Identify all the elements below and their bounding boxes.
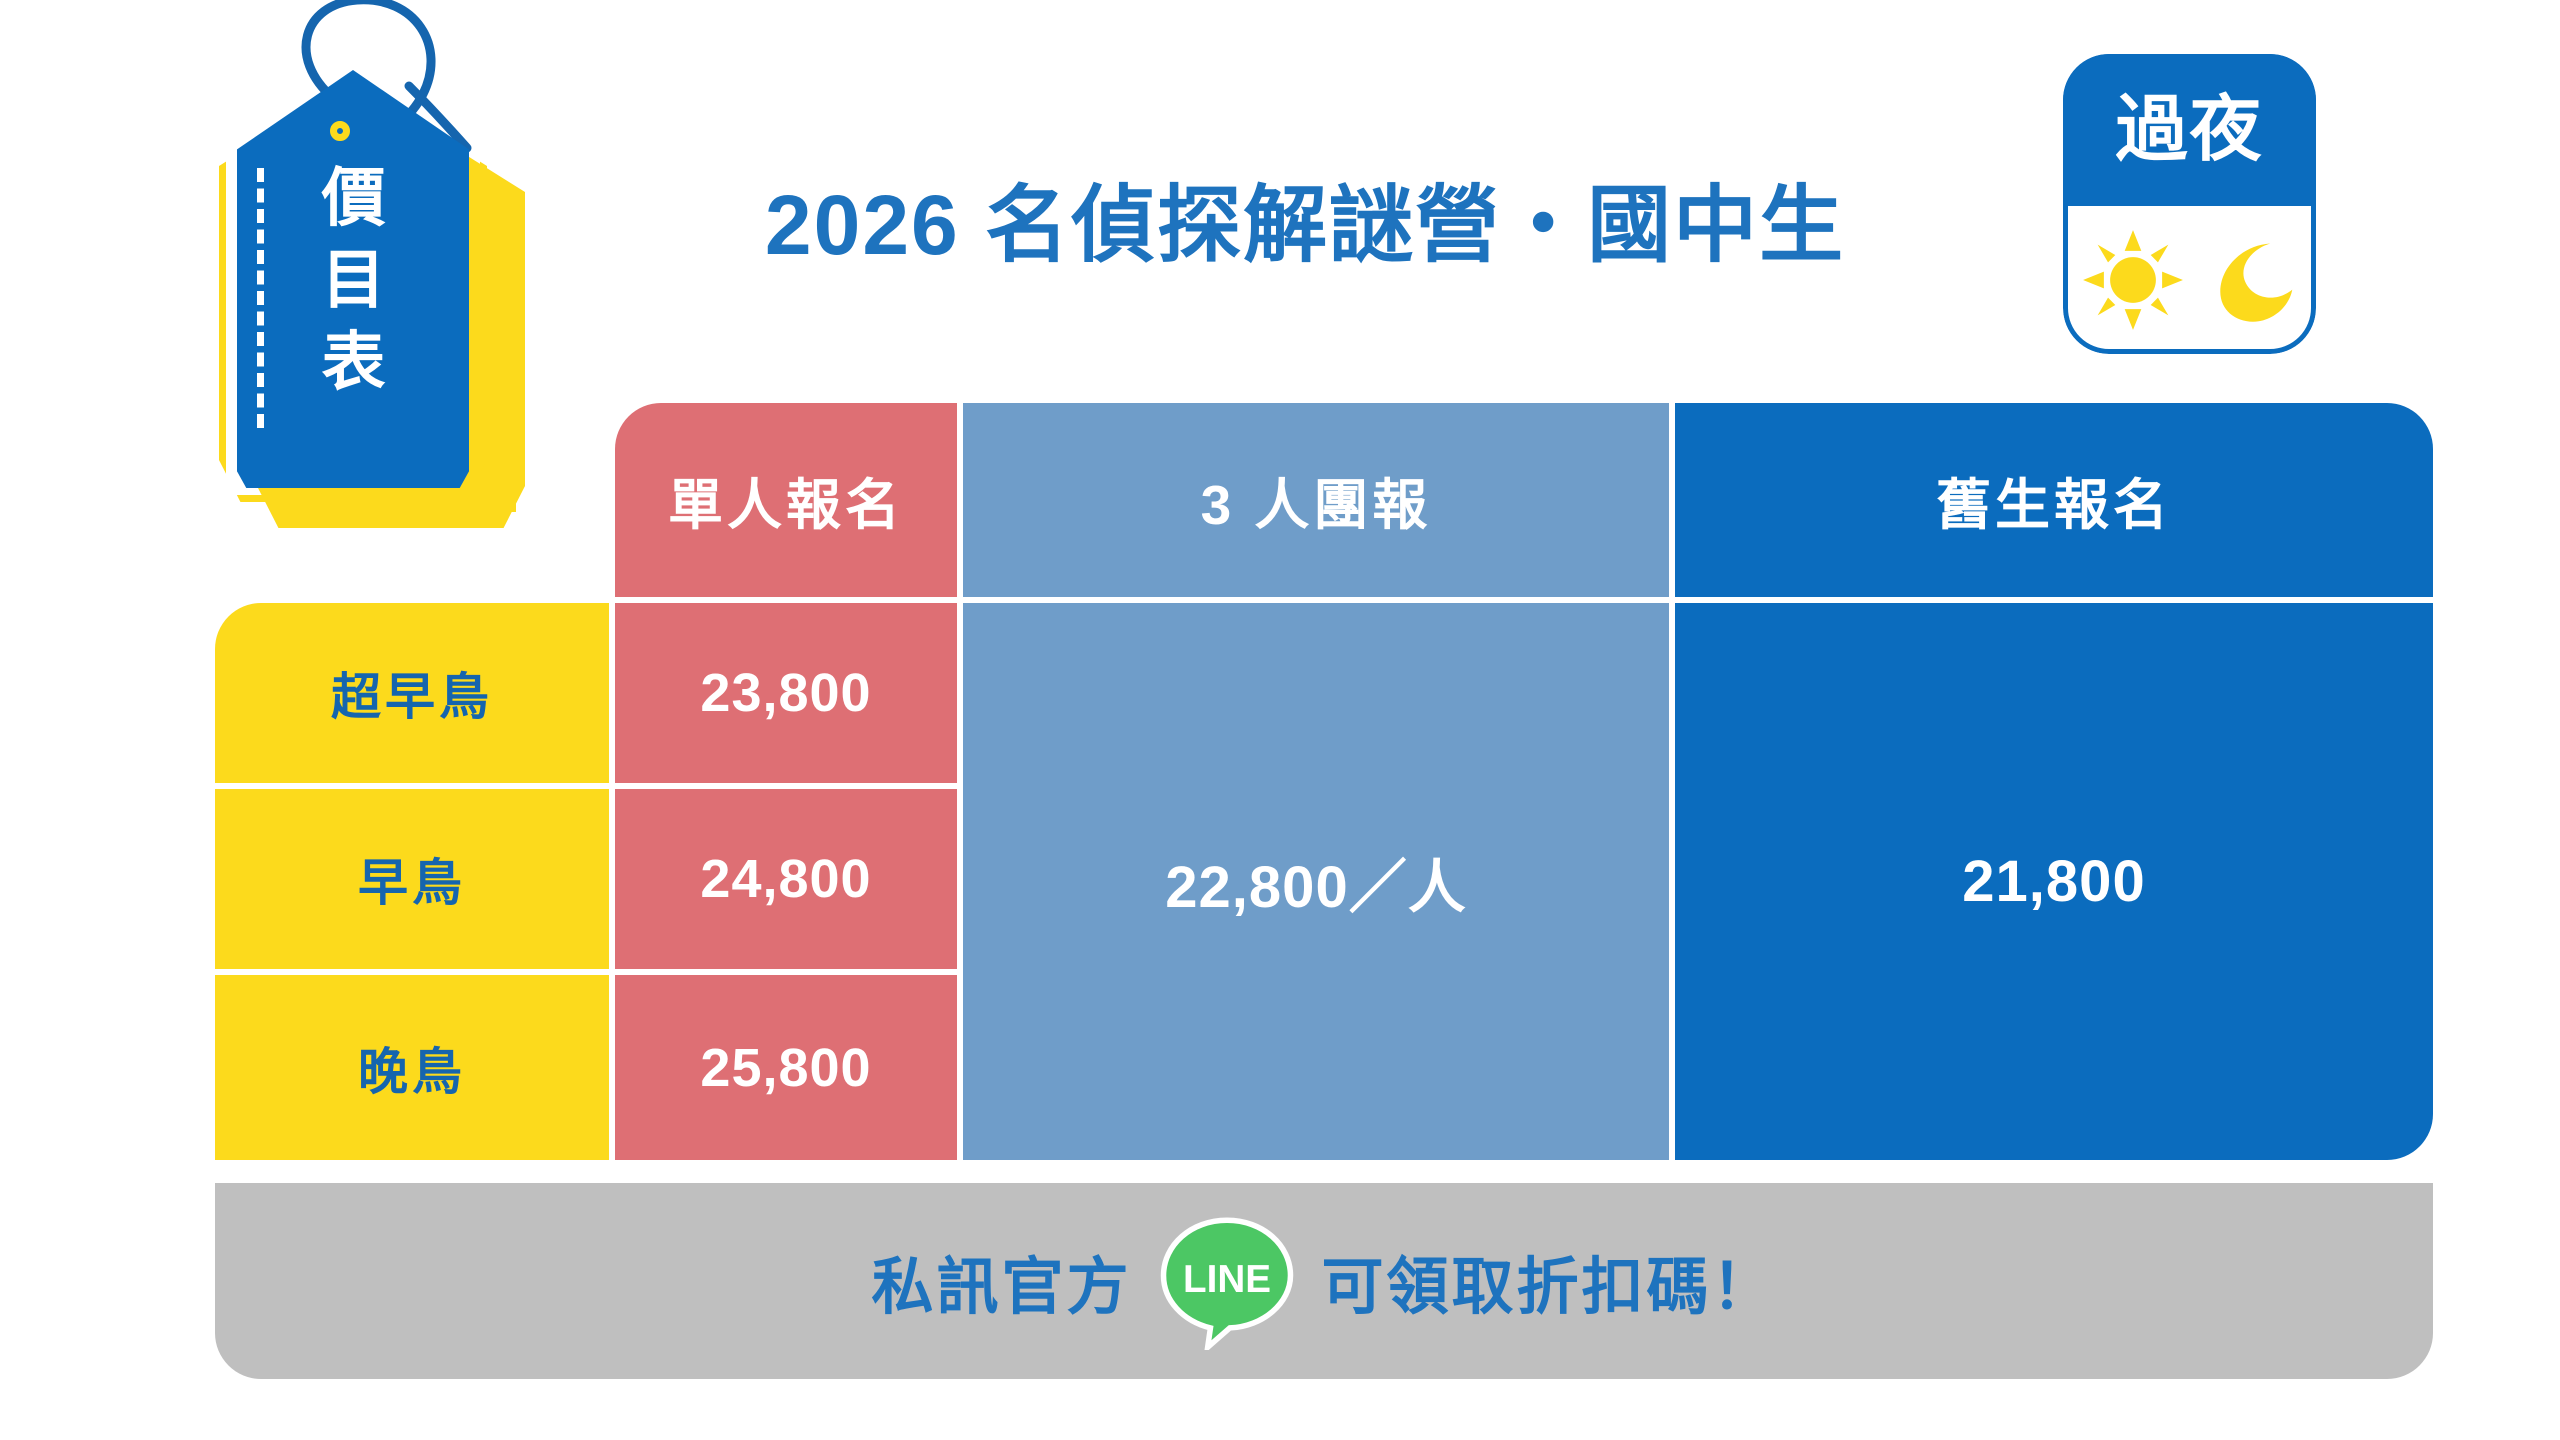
table-cell-single-super-early: 23,800 — [615, 603, 957, 783]
footer-bar: 私訊官方 LINE 可領取折扣碼！ — [215, 1183, 2433, 1379]
line-logo-label: LINE — [1183, 1258, 1271, 1301]
pricing-poster: 價 目 表 2026 名偵探解謎營・國中生 過夜 — [0, 0, 2560, 1440]
price-tag-char-3: 表 — [299, 322, 409, 404]
price-tag-char-2: 目 — [299, 240, 409, 322]
price-tag-char-1: 價 — [299, 158, 409, 240]
price-table: 單人報名 3 人團報 舊生報名 超早鳥 23,800 早鳥 24,800 晚鳥 … — [215, 403, 2433, 1160]
page-title: 2026 名偵探解謎營・國中生 — [620, 158, 1990, 279]
table-row-label-super-early: 超早鳥 — [215, 603, 609, 783]
table-header-group: 3 人團報 — [963, 403, 1669, 597]
overnight-badge-bottom — [2063, 206, 2316, 354]
price-tag-label: 價 目 表 — [299, 158, 409, 404]
table-header-alumni: 舊生報名 — [1675, 403, 2433, 597]
overnight-badge: 過夜 — [2057, 48, 2322, 360]
table-cell-single-early: 24,800 — [615, 789, 957, 969]
table-row-label-early: 早鳥 — [215, 789, 609, 969]
footer-text-after: 可領取折扣碼！ — [1322, 1236, 1777, 1326]
table-row-label-late: 晚鳥 — [215, 975, 609, 1160]
moon-icon — [2203, 232, 2299, 328]
table-header-single: 單人報名 — [615, 403, 957, 597]
tag-hole-icon — [330, 121, 350, 141]
table-cell-alumni-price: 21,800 — [1675, 603, 2433, 1160]
line-chat-bubble-icon[interactable]: LINE — [1158, 1212, 1296, 1350]
overnight-badge-label: 過夜 — [2115, 94, 2263, 166]
overnight-badge-top: 過夜 — [2063, 54, 2316, 206]
tag-dashed-line-white — [257, 168, 264, 428]
sun-icon — [2081, 228, 2185, 332]
table-cell-group-price: 22,800／人 — [963, 603, 1669, 1160]
footer-text-before: 私訊官方 — [871, 1236, 1131, 1326]
table-cell-single-late: 25,800 — [615, 975, 957, 1160]
